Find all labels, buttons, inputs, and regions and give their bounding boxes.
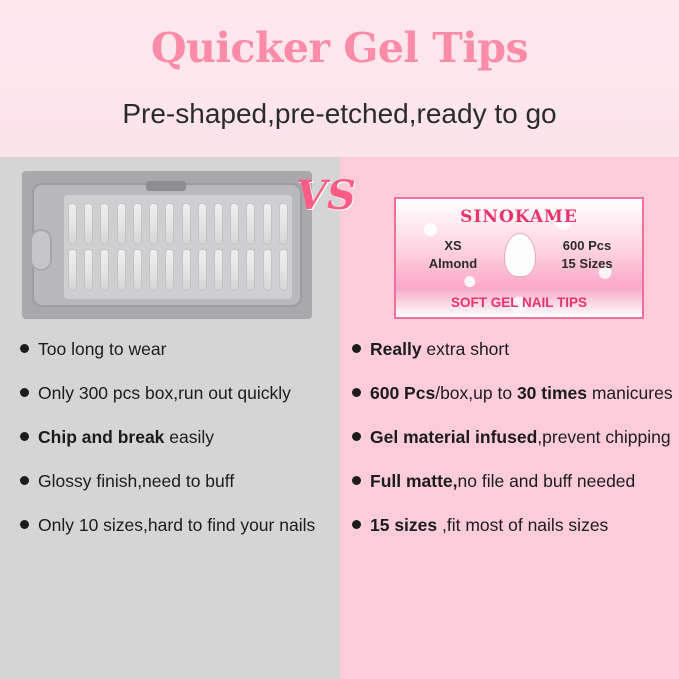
case-hinge-icon — [146, 181, 186, 191]
comparison-panels: Too long to wearOnly 300 pcs box,run out… — [0, 157, 679, 679]
list-item-label: Full matte,no file and buff needed — [370, 469, 635, 494]
nail-tip — [68, 203, 77, 245]
nail-tip — [263, 203, 272, 245]
nail-tip-case-illustration — [32, 183, 302, 307]
case-tray — [64, 195, 292, 299]
bullet-dot-icon — [352, 476, 361, 485]
nail-tip — [230, 203, 239, 245]
nail-tip — [117, 203, 126, 245]
package-shape-label: Almond — [412, 255, 494, 273]
product-comparison-infographic: Quicker Gel Tips Pre-shaped,pre-etched,r… — [0, 0, 679, 679]
nail-tip-row — [68, 249, 288, 291]
bullet-dot-icon — [20, 476, 29, 485]
page-subtitle: Pre-shaped,pre-etched,ready to go — [0, 98, 679, 130]
list-item-label: Gel material infused,prevent chipping — [370, 425, 671, 450]
nail-tip — [100, 249, 109, 291]
sinokame-feature-list: Really extra short600 Pcs/box,up to 30 t… — [352, 337, 674, 557]
bullet-dot-icon — [352, 432, 361, 441]
nail-tip — [198, 249, 207, 291]
nail-tip — [149, 249, 158, 291]
competitor-feature-list: Too long to wearOnly 300 pcs box,run out… — [20, 337, 332, 557]
nail-tip — [84, 203, 93, 245]
left-panel-competitor: Too long to wearOnly 300 pcs box,run out… — [0, 157, 340, 679]
list-item: Full matte,no file and buff needed — [352, 469, 674, 494]
nail-tip — [230, 249, 239, 291]
list-item: Gel material infused,prevent chipping — [352, 425, 674, 450]
list-item: 15 sizes ,fit most of nails sizes — [352, 513, 674, 538]
list-item: Glossy finish,need to buff — [20, 469, 332, 494]
list-item: Too long to wear — [20, 337, 332, 362]
list-item-label: 15 sizes ,fit most of nails sizes — [370, 513, 608, 538]
nail-tip — [133, 249, 142, 291]
page-title: Quicker Gel Tips — [0, 24, 679, 72]
nail-tip — [279, 249, 288, 291]
right-panel-sinokame: SINOKAME XS Almond 600 Pcs 15 Sizes SOFT… — [340, 157, 679, 679]
nail-tip-row — [68, 203, 288, 245]
nail-tip — [100, 203, 109, 245]
nail-tip — [246, 249, 255, 291]
nail-tip — [198, 203, 207, 245]
list-item: Only 300 pcs box,run out quickly — [20, 381, 332, 406]
bullet-dot-icon — [352, 520, 361, 529]
package-footer-label: SOFT GEL NAIL TIPS — [396, 295, 642, 310]
nail-tip — [165, 249, 174, 291]
list-item: 600 Pcs/box,up to 30 times manicures — [352, 381, 674, 406]
list-item: Only 10 sizes,hard to find your nails — [20, 513, 332, 538]
list-item-label: Only 300 pcs box,run out quickly — [38, 381, 291, 406]
list-item-label: 600 Pcs/box,up to 30 times manicures — [370, 381, 673, 406]
bullet-dot-icon — [20, 344, 29, 353]
nail-tip — [182, 249, 191, 291]
bullet-dot-icon — [352, 344, 361, 353]
nail-tip — [117, 249, 126, 291]
nail-tip — [84, 249, 93, 291]
nail-tip — [279, 203, 288, 245]
package-count-sizes: 600 Pcs 15 Sizes — [544, 237, 630, 273]
bullet-dot-icon — [20, 520, 29, 529]
list-item-label: Chip and break easily — [38, 425, 214, 450]
nail-tip — [214, 249, 223, 291]
package-size-shape: XS Almond — [412, 237, 494, 273]
package-brand-name: SINOKAME — [396, 207, 642, 227]
package-size-label: XS — [412, 237, 494, 255]
nail-tip — [182, 203, 191, 245]
nail-tip — [68, 249, 77, 291]
nail-tip — [246, 203, 255, 245]
nail-tip — [263, 249, 272, 291]
vs-badge: VS — [296, 172, 356, 219]
list-item-label: Glossy finish,need to buff — [38, 469, 234, 494]
list-item: Chip and break easily — [20, 425, 332, 450]
list-item-label: Really extra short — [370, 337, 509, 362]
sinokame-product-package-image: SINOKAME XS Almond 600 Pcs 15 Sizes SOFT… — [394, 197, 644, 319]
bullet-dot-icon — [352, 388, 361, 397]
competitor-product-image — [22, 171, 312, 319]
nail-tip — [149, 203, 158, 245]
nail-tip — [133, 203, 142, 245]
list-item-label: Too long to wear — [38, 337, 166, 362]
case-clip-icon — [30, 229, 52, 271]
package-sizes-label: 15 Sizes — [544, 255, 630, 273]
nail-tip — [214, 203, 223, 245]
list-item: Really extra short — [352, 337, 674, 362]
list-item-label: Only 10 sizes,hard to find your nails — [38, 513, 315, 538]
bullet-dot-icon — [20, 388, 29, 397]
nail-tip-icon — [504, 233, 536, 277]
nail-tip — [165, 203, 174, 245]
bullet-dot-icon — [20, 432, 29, 441]
package-count-label: 600 Pcs — [544, 237, 630, 255]
